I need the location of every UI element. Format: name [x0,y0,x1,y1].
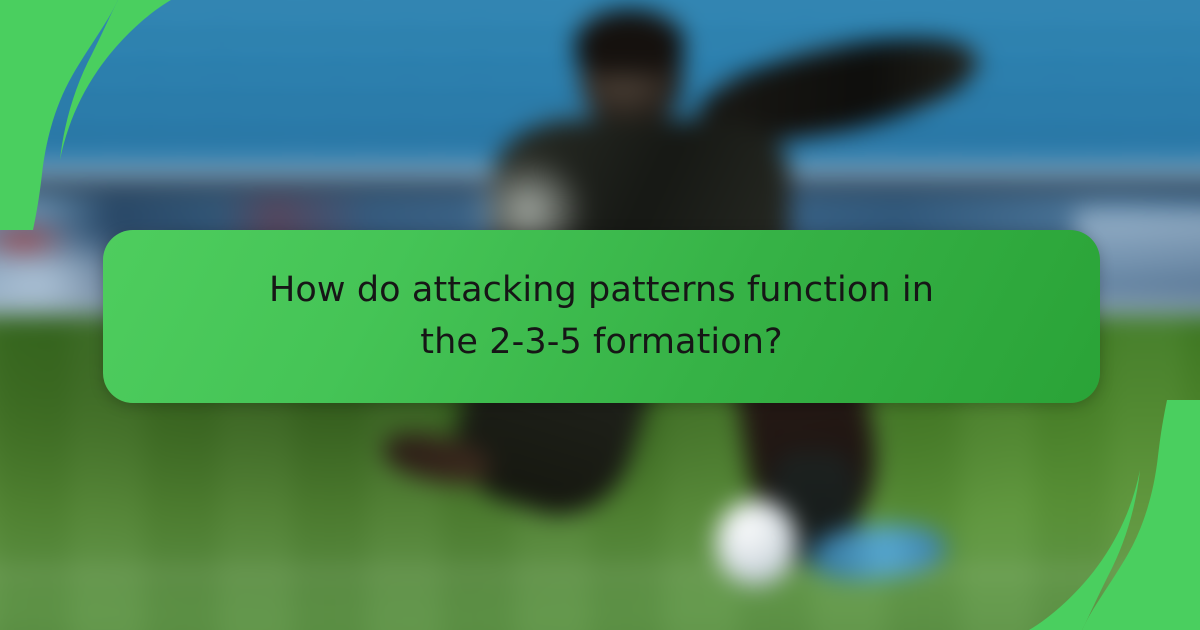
question-title: How do attacking patterns function in th… [237,265,967,369]
player-hair [576,10,685,74]
question-card-graphic: How do attacking patterns function in th… [0,0,1200,630]
question-card: How do attacking patterns function in th… [103,230,1100,403]
swoosh-main-shape [1082,400,1200,630]
top-left-swoosh-decoration [0,0,230,230]
football-ball [715,499,796,586]
swoosh-main-shape [0,0,118,230]
bottom-right-swoosh-decoration [970,400,1200,630]
